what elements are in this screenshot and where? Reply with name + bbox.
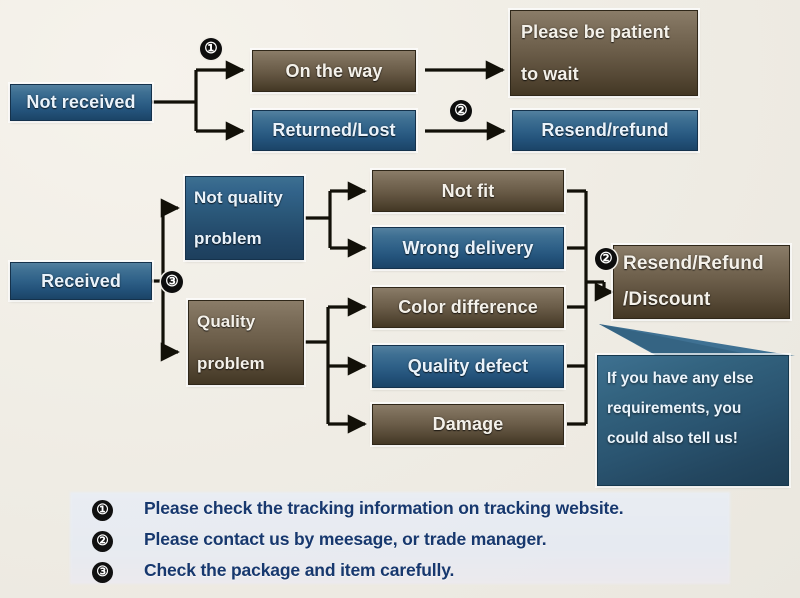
callout-tail-icon (597, 318, 797, 360)
marker-2-top-icon: ② (450, 100, 472, 122)
node-resend-refund[interactable]: Resend/refund (512, 110, 698, 151)
legend-marker-2-icon: ② (92, 531, 113, 552)
flowchart-canvas: Not received On the way Returned/Lost Pl… (0, 0, 800, 598)
node-not-fit[interactable]: Not fit (372, 170, 564, 212)
node-quality-defect[interactable]: Quality defect (372, 345, 564, 388)
legend-item: ① Please check the tracking information … (92, 496, 782, 527)
node-received-label: Received (11, 271, 151, 291)
node-not-received-label: Not received (11, 92, 151, 112)
marker-3-icon: ③ (161, 271, 183, 293)
callout-line1: If you have any else (607, 370, 753, 387)
node-damage[interactable]: Damage (372, 404, 564, 445)
node-quality-problem-line1: Quality (197, 312, 295, 331)
node-quality-problem[interactable]: Quality problem (188, 300, 304, 385)
node-color-difference[interactable]: Color difference (372, 287, 564, 328)
legend-text-1: Please check the tracking information on… (144, 498, 624, 519)
legend-marker-3-icon: ③ (92, 562, 113, 583)
callout-line2: requirements, you (607, 400, 741, 417)
node-quality-problem-line2: problem (197, 354, 295, 373)
node-on-the-way-label: On the way (253, 61, 415, 81)
node-color-difference-label: Color difference (373, 297, 563, 317)
node-received[interactable]: Received (10, 262, 152, 300)
node-returned-lost-label: Returned/Lost (253, 120, 415, 140)
node-resend-refund-discount[interactable]: Resend/Refund /Discount (613, 245, 790, 319)
node-not-quality-problem-line1: Not quality (194, 188, 295, 207)
marker-1-icon: ① (200, 38, 222, 60)
node-not-quality-problem-line2: problem (194, 229, 295, 248)
node-returned-lost[interactable]: Returned/Lost (252, 110, 416, 151)
node-wrong-delivery-label: Wrong delivery (373, 238, 563, 258)
marker-2-bottom-icon: ② (595, 248, 617, 270)
node-on-the-way[interactable]: On the way (252, 50, 416, 92)
legend-item: ② Please contact us by meesage, or trade… (92, 527, 782, 558)
node-resend-refund-label: Resend/refund (513, 120, 697, 140)
callout-line3: could also tell us! (607, 430, 738, 447)
callout-box: If you have any else requirements, you c… (597, 355, 789, 486)
node-please-be-patient[interactable]: Please be patient to wait (510, 10, 698, 96)
node-please-be-patient-line2: to wait (521, 64, 687, 84)
legend-marker-1-icon: ① (92, 500, 113, 521)
legend: ① Please check the tracking information … (92, 496, 782, 589)
node-please-be-patient-line1: Please be patient (521, 22, 687, 42)
legend-text-3: Check the package and item carefully. (144, 560, 454, 581)
node-not-received[interactable]: Not received (10, 84, 152, 121)
node-not-quality-problem[interactable]: Not quality problem (185, 176, 304, 260)
node-quality-defect-label: Quality defect (373, 356, 563, 376)
node-resend-refund-discount-line2: /Discount (623, 289, 780, 310)
node-damage-label: Damage (373, 414, 563, 434)
node-wrong-delivery[interactable]: Wrong delivery (372, 227, 564, 269)
legend-text-2: Please contact us by meesage, or trade m… (144, 529, 546, 550)
node-resend-refund-discount-line1: Resend/Refund (623, 253, 780, 274)
node-not-fit-label: Not fit (373, 181, 563, 201)
legend-item: ③ Check the package and item carefully. (92, 558, 782, 589)
